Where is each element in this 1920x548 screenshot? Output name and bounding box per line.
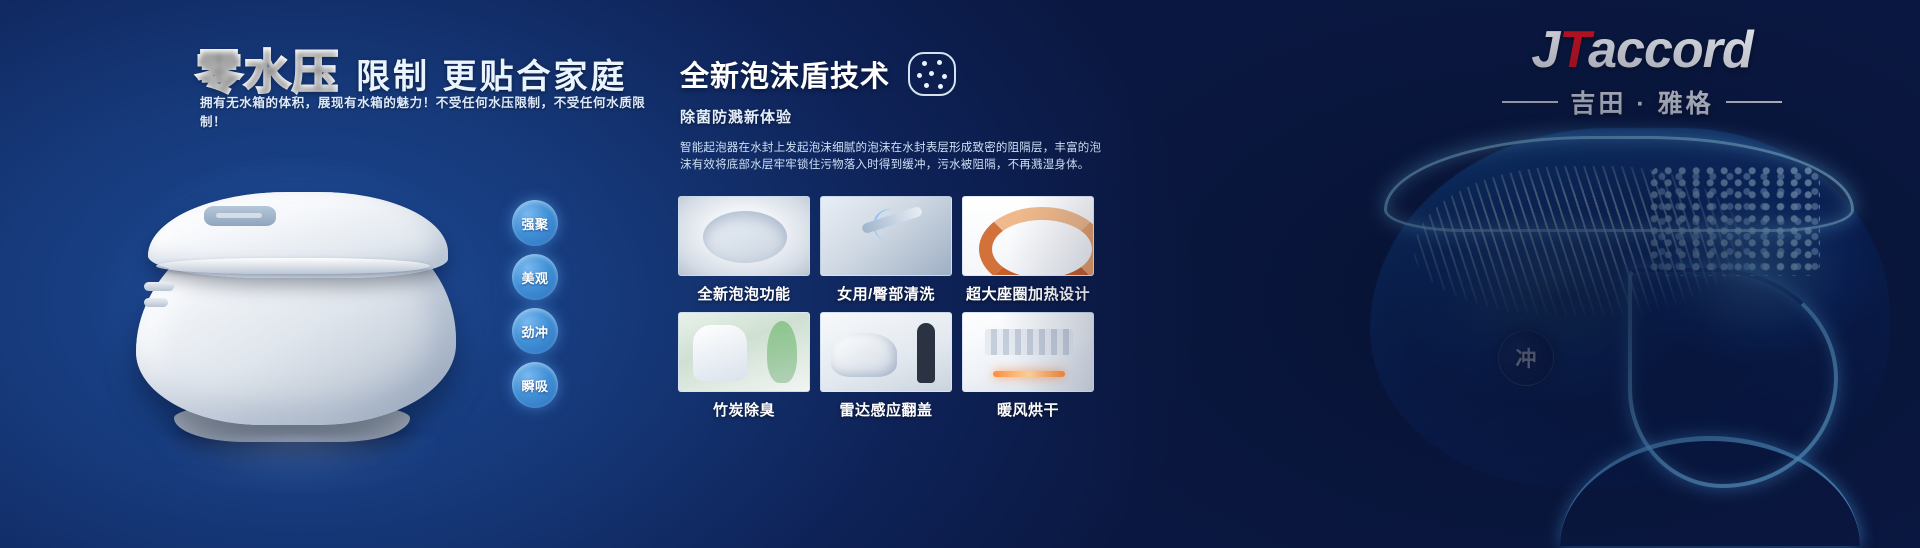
left-badge-list: 强聚 美观 劲冲 瞬吸 <box>512 200 558 416</box>
logo-rule-left <box>1502 101 1558 103</box>
foam-bubble-dot <box>938 84 943 89</box>
middle-title: 全新泡沫盾技术 <box>680 53 890 95</box>
heated-seat-ring-thumb <box>962 196 1094 276</box>
brand-logo-latin: JTaccord <box>1472 24 1812 76</box>
warm-air-dryer-thumb <box>962 312 1094 392</box>
brand-logo-chinese: 吉田 · 雅格 <box>1570 84 1713 120</box>
brand-logo-accord: accord <box>1588 21 1753 79</box>
left-badge-2-label: 美观 <box>521 268 548 287</box>
left-badge-3[interactable]: 劲冲 <box>512 308 558 354</box>
foam-bubble-dot <box>937 60 942 65</box>
foam-bubble-icon <box>908 52 956 96</box>
brand-logo-chinese-row: 吉田 · 雅格 <box>1472 84 1812 120</box>
left-badge-4[interactable]: 瞬吸 <box>512 362 558 408</box>
left-badge-2[interactable]: 美观 <box>512 254 558 300</box>
brand-logo-j: J <box>1531 21 1559 79</box>
toilet-xray-cutaway: 冲 聚 吸 <box>1350 118 1910 548</box>
foam-bubble-dot <box>917 73 922 78</box>
xray-foam-region <box>1650 166 1820 276</box>
left-section: 零水压 限制 更贴合家庭 拥有无水箱的体积，展现有水箱的魅力！不受任何水压限制，… <box>0 0 660 548</box>
left-badge-4-label: 瞬吸 <box>521 376 548 395</box>
headline-sub-text: 限制 更贴合家庭 <box>356 49 627 98</box>
left-badge-1-label: 强聚 <box>521 214 548 233</box>
feature-label: 竹炭除臭 <box>678 399 810 420</box>
middle-title-row: 全新泡沫盾技术 <box>680 52 956 96</box>
smart-toilet-photo <box>96 130 496 460</box>
headline-description: 拥有无水箱的体积，展现有水箱的魅力！不受任何水压限制，不受任何水质限制！ <box>200 92 660 130</box>
foam-bubble-dot <box>922 61 927 66</box>
feature-label: 暖风烘干 <box>962 399 1094 420</box>
left-badge-1[interactable]: 强聚 <box>512 200 558 246</box>
radar-auto-lid-thumb <box>820 312 952 392</box>
right-badge-chong-label: 冲 <box>1516 343 1537 373</box>
middle-section: 全新泡沫盾技术 除菌防溅新体验 智能起泡器在水封上发起泡沫细腻的泡沫在水封表层形… <box>660 0 1220 548</box>
brand-logo-t: T <box>1559 21 1588 79</box>
foam-bowl-thumb <box>678 196 810 276</box>
right-badge-chong[interactable]: 冲 <box>1498 330 1554 386</box>
feature-cell[interactable]: 女用/臀部清洗 <box>820 196 952 304</box>
logo-rule-right <box>1726 101 1782 103</box>
feature-cell[interactable]: 全新泡泡功能 <box>678 196 810 304</box>
foam-bubble-dot <box>942 74 947 79</box>
feature-label: 雷达感应翻盖 <box>820 399 952 420</box>
right-section: JTaccord 吉田 · 雅格 冲 聚 吸 <box>1220 0 1920 548</box>
feature-grid: 全新泡泡功能 女用/臀部清洗 超大座圈加热设计 竹炭除臭 雷达感应翻盖 暖风烘干 <box>678 196 1094 420</box>
brand-logo[interactable]: JTaccord 吉田 · 雅格 <box>1472 24 1812 120</box>
promo-banner: 零水压 限制 更贴合家庭 拥有无水箱的体积，展现有水箱的魅力！不受任何水压限制，… <box>0 0 1920 548</box>
feature-cell[interactable]: 超大座圈加热设计 <box>962 196 1094 304</box>
washing-nozzle-thumb <box>820 196 952 276</box>
bamboo-charcoal-thumb <box>678 312 810 392</box>
feature-label: 女用/臀部清洗 <box>820 283 952 304</box>
feature-cell[interactable]: 暖风烘干 <box>962 312 1094 420</box>
feature-label: 全新泡泡功能 <box>678 283 810 304</box>
left-badge-3-label: 劲冲 <box>521 322 548 341</box>
toilet-side-button-icon <box>144 282 174 291</box>
feature-cell[interactable]: 雷达感应翻盖 <box>820 312 952 420</box>
feature-label: 超大座圈加热设计 <box>962 283 1094 304</box>
middle-subtitle: 除菌防溅新体验 <box>680 106 792 127</box>
toilet-side-button-secondary-icon <box>144 298 168 307</box>
middle-paragraph: 智能起泡器在水封上发起泡沫细腻的泡沫在水封表层形成致密的阻隔层，丰富的泡沫有效将… <box>680 140 1110 174</box>
toilet-reflection <box>156 436 436 494</box>
foam-bubble-dot <box>924 83 929 88</box>
toilet-control-panel-icon <box>204 206 276 226</box>
foam-bubble-dot <box>929 71 934 76</box>
toilet-seat-line <box>156 258 430 274</box>
feature-cell[interactable]: 竹炭除臭 <box>678 312 810 420</box>
